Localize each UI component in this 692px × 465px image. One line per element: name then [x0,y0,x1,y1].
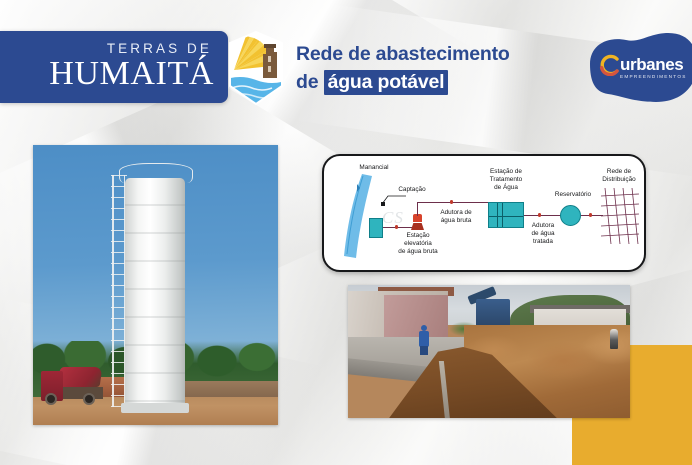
photo-worker [418,325,430,355]
headline-line-2-prefix: de [296,71,324,93]
photo-worker-legs [420,346,428,355]
photo-crane-truck [41,367,103,405]
urbanes-name: urbanes [620,56,687,73]
diagram-pipe-node [589,213,592,216]
diagram-pump-riser-pipe [417,202,418,216]
diagram-distribution-network-grid [601,188,639,244]
photo-truck-wheel [83,393,95,405]
photo-house-left [348,291,448,343]
diagram-pipe-node [538,213,541,216]
diagram-label-estacao-tratamento: Estação de Tratamento de Água [476,168,536,192]
urbanes-wordmark: urbanes EMPREENDIMENTOS [620,56,687,79]
diagram-station-divider [497,203,498,227]
diagram-label-adutora-tratada: Adutora de água tratada [522,222,564,246]
diagram-station-divider [489,216,523,217]
photo-truck-bed [61,387,103,399]
water-tower-photo [33,145,278,425]
diagram-intake-structure [369,218,383,238]
urbanes-logo[interactable]: urbanes EMPREENDIMENTOS [576,16,692,112]
diagram-captacao-leader-line [380,194,406,206]
slide-canvas: TERRAS DE HUMAITÁ [0,0,692,465]
brand-main-text: HUMAITÁ [49,57,214,92]
photo-truck-crane-arm [58,367,103,387]
photo-water-tank [125,178,185,410]
headline-line-2: de água potável [296,70,572,96]
diagram-label-estacao-elevatoria: Estação elevatória de água bruta [386,232,450,256]
diagram-label-adutora-bruta: Adutora de água bruta [430,209,482,225]
diagram-label-reservatorio: Reservatório [546,191,600,199]
photo-worker-body [419,331,429,347]
slide-headline: Rede de abastecimento de água potável [296,42,572,96]
diagram-station-divider [502,203,503,227]
photo-truck-wheel [45,393,57,405]
diagram-pump-station-icon [411,214,424,230]
diagram-label-captacao: Captação [390,186,434,194]
brand-superior-text: TERRAS DE [107,42,212,56]
diagram-pipe-node [395,225,398,228]
diagram-label-rede-distribuicao: Rede de Distribuição [592,168,646,184]
diagram-treatment-station [488,202,524,228]
pipe-trench-photo [348,285,630,418]
diagram-pipe-node [450,200,453,203]
water-supply-system-diagram: CS [322,154,646,272]
diagram-river-shape [344,174,374,258]
humaita-city-crest-icon [224,30,288,106]
diagram-treated-water-main [524,215,561,216]
photo-tank-base [121,403,189,413]
diagram-label-manancial: Manancial [344,164,404,172]
urbanes-arc-mark-icon [598,54,620,76]
brand-banner: TERRAS DE HUMAITÁ [0,31,228,103]
urbanes-tagline: EMPREENDIMENTOS [620,75,687,80]
diagram-watermark: CS [382,208,404,228]
photo-bystander [610,329,618,349]
headline-line-1: Rede de abastecimento [296,43,510,65]
headline-emphasis: água potável [324,70,449,95]
